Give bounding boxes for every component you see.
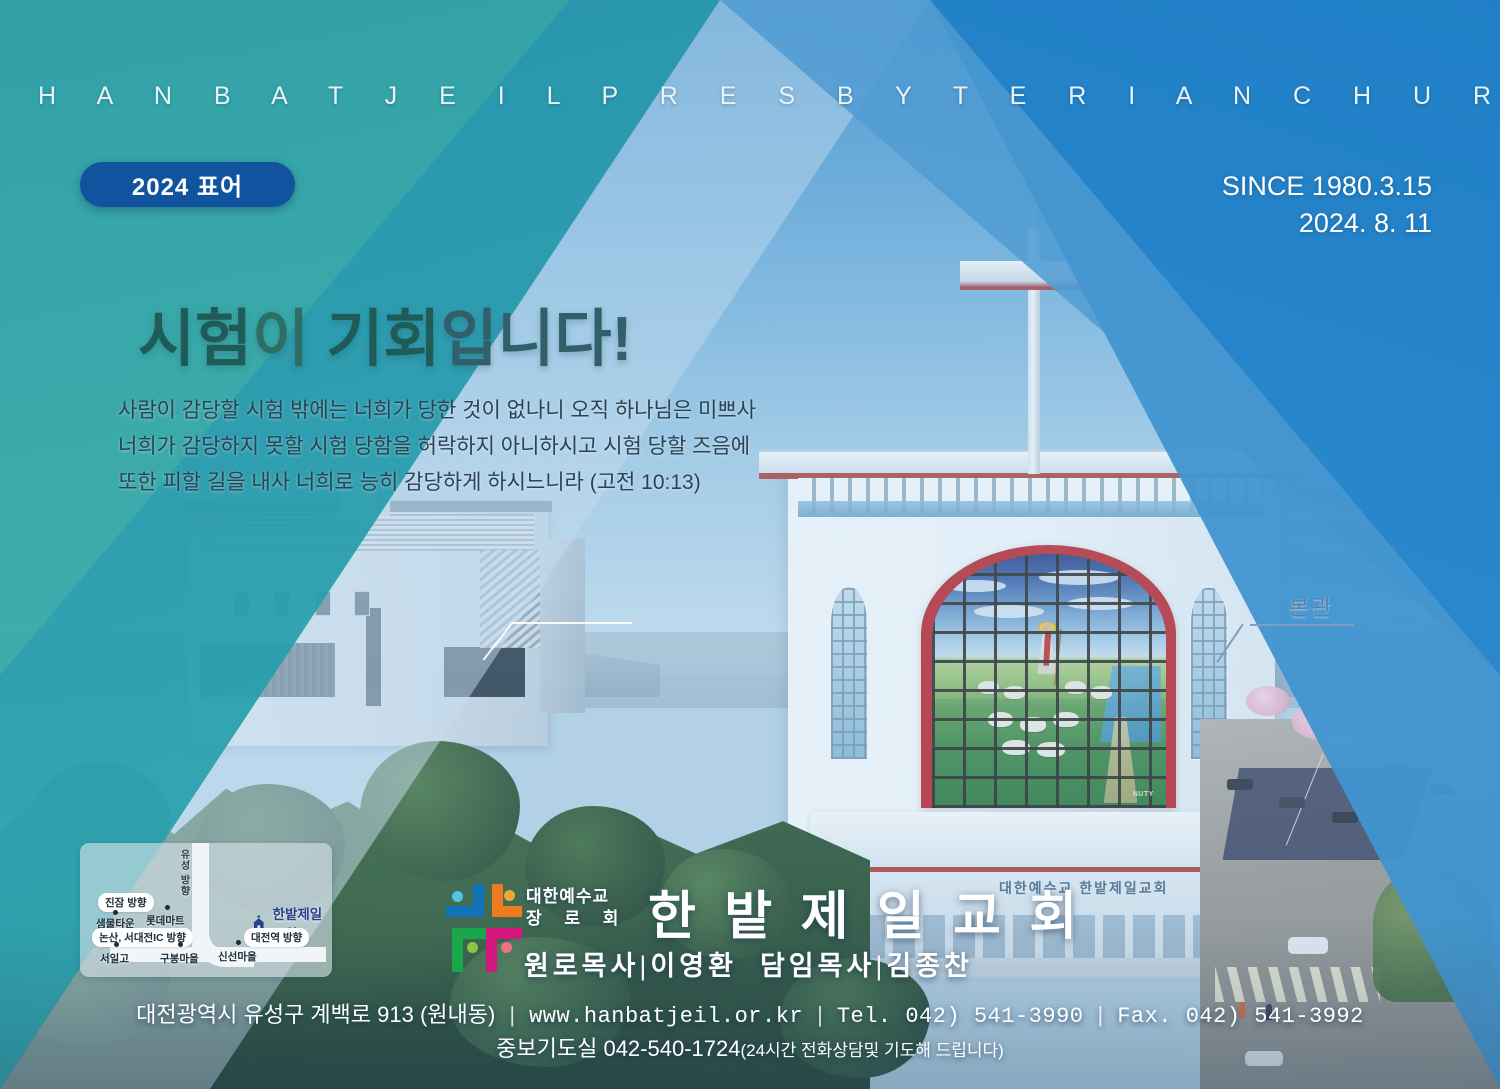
- senior-pastor-name: 김종찬: [886, 951, 973, 981]
- logo-dot-pink: [501, 942, 512, 953]
- map-point: [113, 910, 118, 915]
- logo-dot-cyan: [452, 891, 463, 902]
- footer-website[interactable]: www.hanbatjeil.or.kr: [529, 1004, 803, 1029]
- english-wordmark: H A N B A T J E I L P R E S B Y T E R I …: [38, 82, 1500, 111]
- verse-line-3: 또한 피할 길을 내사 너희로 능히 감당하게 하시느니라 (고전 10:13): [118, 465, 756, 501]
- logo-dot-amber: [504, 890, 515, 901]
- map-landmark-gubong: 구봉마을: [160, 951, 199, 966]
- map-landmark-seoil: 서일고: [100, 951, 129, 966]
- text-layer: H A N B A T J E I L P R E S B Y T E R I …: [0, 0, 1500, 1089]
- issue-date: 2024. 8. 11: [1222, 205, 1432, 242]
- map-direction-yuseong: 유성 방향: [176, 849, 191, 897]
- since-block: SINCE 1980.3.15 2024. 8. 11: [1222, 168, 1432, 241]
- footer-address: 대전광역시 유성구 계백로 913 (원내동): [136, 1002, 495, 1027]
- footer-telephone: Tel. 042) 541-3990: [837, 1004, 1084, 1029]
- logo-bar-blue-vertical: [473, 884, 484, 917]
- denomination-line-2: 장 로 회: [526, 908, 627, 930]
- map-landmark-lotte: 롯데마트: [146, 913, 185, 928]
- year-slogan-headline: 시험이 기회입니다!: [138, 288, 632, 378]
- prayer-room-note: (24시간 전화상담및 기도해 드립니다): [740, 1041, 1003, 1060]
- slogan-emphasis-2: 기회: [326, 305, 440, 374]
- pastor-emeritus-name: 이영환: [650, 951, 737, 981]
- map-point: [165, 905, 170, 910]
- footer-separator-2: |: [817, 1002, 823, 1027]
- logo-bar-green-horizontal: [452, 928, 486, 939]
- slogan-tail: 입니다!: [440, 305, 632, 374]
- map-point: [178, 942, 183, 947]
- logo-bar-magenta-horizontal: [486, 928, 522, 939]
- church-ci-logo: [446, 884, 522, 972]
- footer-fax: Fax. 042) 541-3992: [1117, 1004, 1364, 1029]
- church-bulletin-cover: NUTY 대한예수교 한밭제일교회: [0, 0, 1500, 1089]
- bible-verse: 사람이 감당할 시험 밖에는 너희가 당한 것이 없나니 오직 하나님은 미쁘사…: [118, 393, 756, 501]
- prayer-room-number: 중보기도실 042-540-1724: [496, 1036, 740, 1061]
- denomination-line-1: 대한예수교: [526, 886, 627, 908]
- pastors-line: 원로목사|이영환 담임목사|김종찬: [524, 944, 973, 983]
- location-map-inset[interactable]: 유성 방향 한밭제일교회 진잠 방향 샘물타운 롯데마트 논산, 서대전IC 방…: [80, 843, 332, 977]
- pastors-separator-2: |: [875, 951, 886, 981]
- logo-dot-lime: [467, 942, 478, 953]
- church-name-korean: 한 밭 제 일 교 회: [648, 874, 1084, 949]
- map-point: [114, 942, 119, 947]
- logo-bar-orange-horizontal: [492, 906, 522, 917]
- pastor-emeritus-title: 원로목사: [524, 951, 639, 981]
- main-building-callout-leader: [1250, 624, 1354, 626]
- map-direction-jinjam: 진잠 방향: [98, 893, 154, 912]
- map-direction-daejeon-station: 대전역 방향: [244, 928, 309, 947]
- footer-contact-line-2: 중보기도실 042-540-1724(24시간 전화상담및 기도해 드립니다): [0, 1031, 1500, 1063]
- denomination-name: 대한예수교 장 로 회: [526, 886, 627, 931]
- main-building-callout-leader-diagonal: [1216, 623, 1243, 662]
- map-landmark-sinseon: 신선마을: [218, 949, 257, 964]
- footer-separator-3: |: [1097, 1002, 1103, 1027]
- map-point: [236, 940, 241, 945]
- since-founded-date: SINCE 1980.3.15: [1222, 168, 1432, 205]
- footer-contact-line-1: 대전광역시 유성구 계백로 913 (원내동)|www.hanbatjeil.o…: [0, 997, 1500, 1029]
- year-slogan-badge-label: 2024 표어: [132, 167, 243, 202]
- pastors-separator-1: |: [639, 951, 650, 981]
- year-slogan-badge: 2024 표어: [80, 162, 295, 207]
- annex-callout-leader: [512, 622, 632, 624]
- slogan-particle-1: 이: [252, 305, 326, 374]
- verse-line-1: 사람이 감당할 시험 밖에는 너희가 당한 것이 없나니 오직 하나님은 미쁘사: [118, 393, 756, 429]
- main-building-callout-label: 본관: [1289, 590, 1333, 622]
- senior-pastor-title: 담임목사: [760, 951, 875, 981]
- verse-line-2: 너희가 감당하지 못할 시험 당함을 허락하지 아니하시고 시험 당할 즈음에: [118, 429, 756, 465]
- footer-separator-1: |: [509, 1002, 515, 1027]
- annex-callout-leader-diagonal: [483, 621, 514, 660]
- slogan-emphasis-1: 시험: [138, 305, 252, 374]
